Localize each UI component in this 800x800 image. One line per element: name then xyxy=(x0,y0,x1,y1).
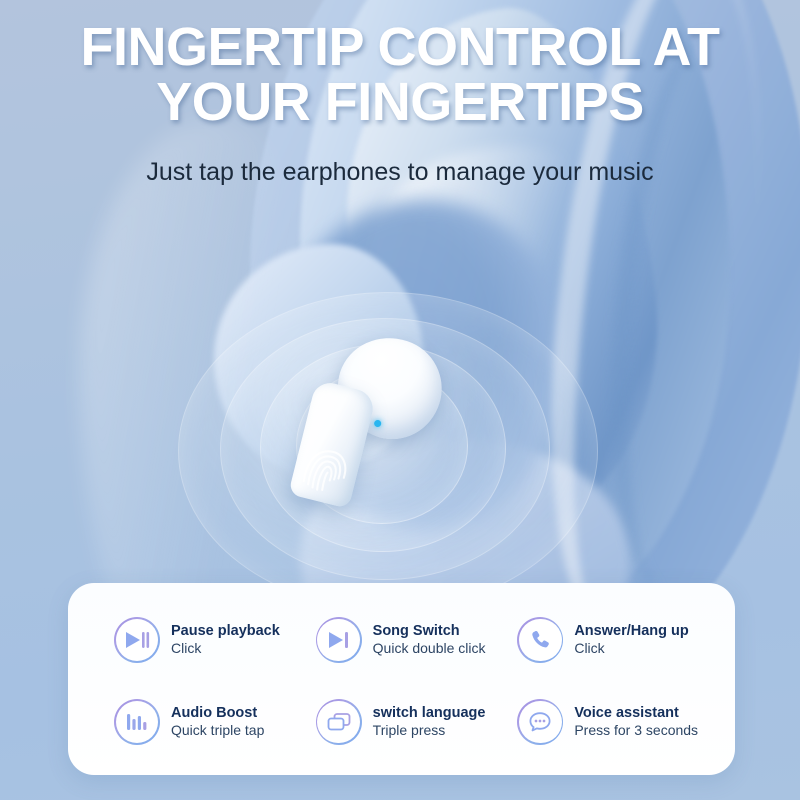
feature-action: Click xyxy=(574,640,688,658)
page-headline: FINGERTIP CONTROL AT YOUR FINGERTIPS xyxy=(0,20,800,130)
phone-call-glyph xyxy=(528,628,552,652)
feature-action: Triple press xyxy=(373,722,486,740)
feature-title: Answer/Hang up xyxy=(574,622,688,641)
feature-text: switch language Triple press xyxy=(373,704,486,740)
feature-action: Click xyxy=(171,640,280,658)
feature-text: Audio Boost Quick triple tap xyxy=(171,704,264,740)
feature-action: Quick double click xyxy=(373,640,486,658)
gesture-controls-grid: Pause playback Click Song Switch Q xyxy=(114,607,719,755)
feature-action: Press for 3 seconds xyxy=(574,722,698,740)
feature-item-song-switch[interactable]: Song Switch Quick double click xyxy=(316,607,518,673)
feature-text: Voice assistant Press for 3 seconds xyxy=(574,704,698,740)
feature-title: Voice assistant xyxy=(574,704,698,723)
feature-item-answer-hangup[interactable]: Answer/Hang up Click xyxy=(517,607,719,673)
next-track-icon xyxy=(316,617,362,663)
feature-item-audio-boost[interactable]: Audio Boost Quick triple tap xyxy=(114,689,316,755)
feature-action: Quick triple tap xyxy=(171,722,264,740)
product-feature-poster: FINGERTIP CONTROL AT YOUR FINGERTIPS Jus… xyxy=(0,0,800,800)
pause-play-glyph xyxy=(124,629,150,651)
feature-title: switch language xyxy=(373,704,486,723)
feature-title: Song Switch xyxy=(373,622,486,641)
equalizer-glyph xyxy=(125,712,149,732)
feature-item-pause-playback[interactable]: Pause playback Click xyxy=(114,607,316,673)
feature-text: Song Switch Quick double click xyxy=(373,622,486,658)
next-track-glyph xyxy=(326,629,352,651)
feature-item-switch-language[interactable]: switch language Triple press xyxy=(316,689,518,755)
speech-bubble-icon xyxy=(517,699,563,745)
feature-text: Answer/Hang up Click xyxy=(574,622,688,658)
page-subheadline: Just tap the earphones to manage your mu… xyxy=(0,158,800,187)
stacked-cards-glyph xyxy=(326,711,352,733)
stacked-cards-icon xyxy=(316,699,362,745)
pause-play-icon xyxy=(114,617,160,663)
headline-line-2: YOUR FINGERTIPS xyxy=(0,75,800,130)
feature-item-voice-assistant[interactable]: Voice assistant Press for 3 seconds xyxy=(517,689,719,755)
speech-bubble-glyph xyxy=(527,710,553,734)
feature-text: Pause playback Click xyxy=(171,622,280,658)
feature-title: Pause playback xyxy=(171,622,280,641)
phone-call-icon xyxy=(517,617,563,663)
fingerprint-icon xyxy=(298,428,358,499)
gesture-controls-card: Pause playback Click Song Switch Q xyxy=(68,583,735,775)
headline-line-1: FINGERTIP CONTROL AT xyxy=(80,17,719,77)
equalizer-icon xyxy=(114,699,160,745)
feature-title: Audio Boost xyxy=(171,704,264,723)
